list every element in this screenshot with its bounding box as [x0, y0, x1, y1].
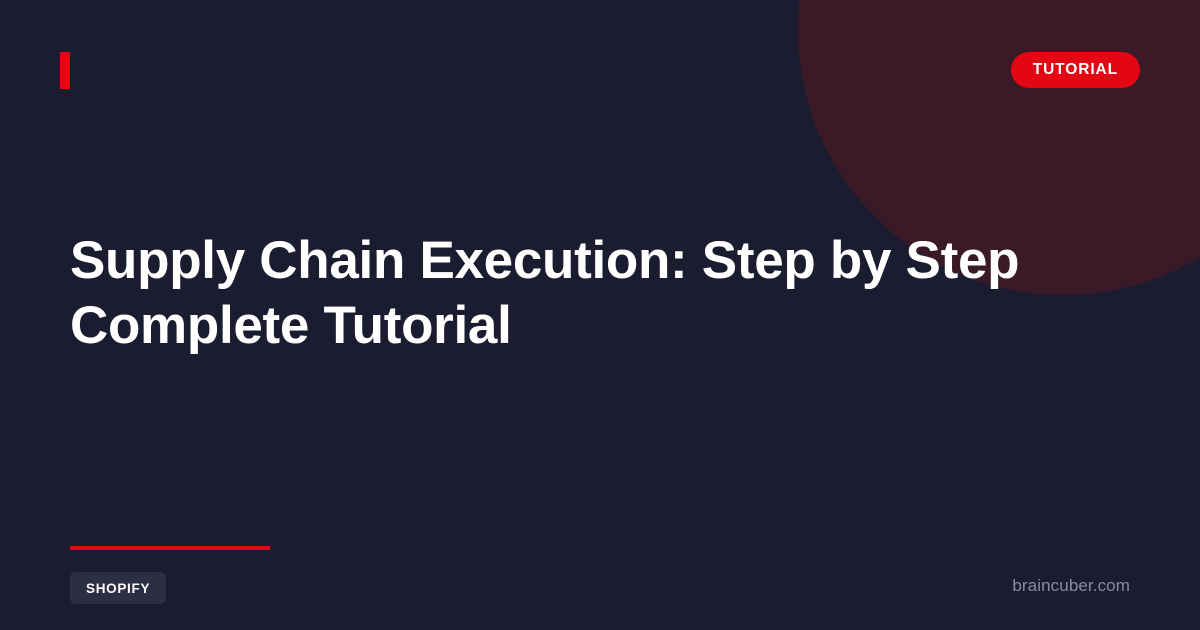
category-badge: TUTORIAL	[1011, 52, 1140, 88]
accent-bar	[60, 52, 70, 89]
footer-left-group: SHOPIFY	[70, 546, 270, 604]
social-share-card: TUTORIAL Supply Chain Execution: Step by…	[0, 0, 1200, 630]
divider-rule	[70, 546, 270, 550]
platform-tag-badge: SHOPIFY	[70, 572, 166, 604]
site-watermark: braincuber.com	[1012, 576, 1130, 596]
page-title: Supply Chain Execution: Step by Step Com…	[70, 228, 1060, 358]
